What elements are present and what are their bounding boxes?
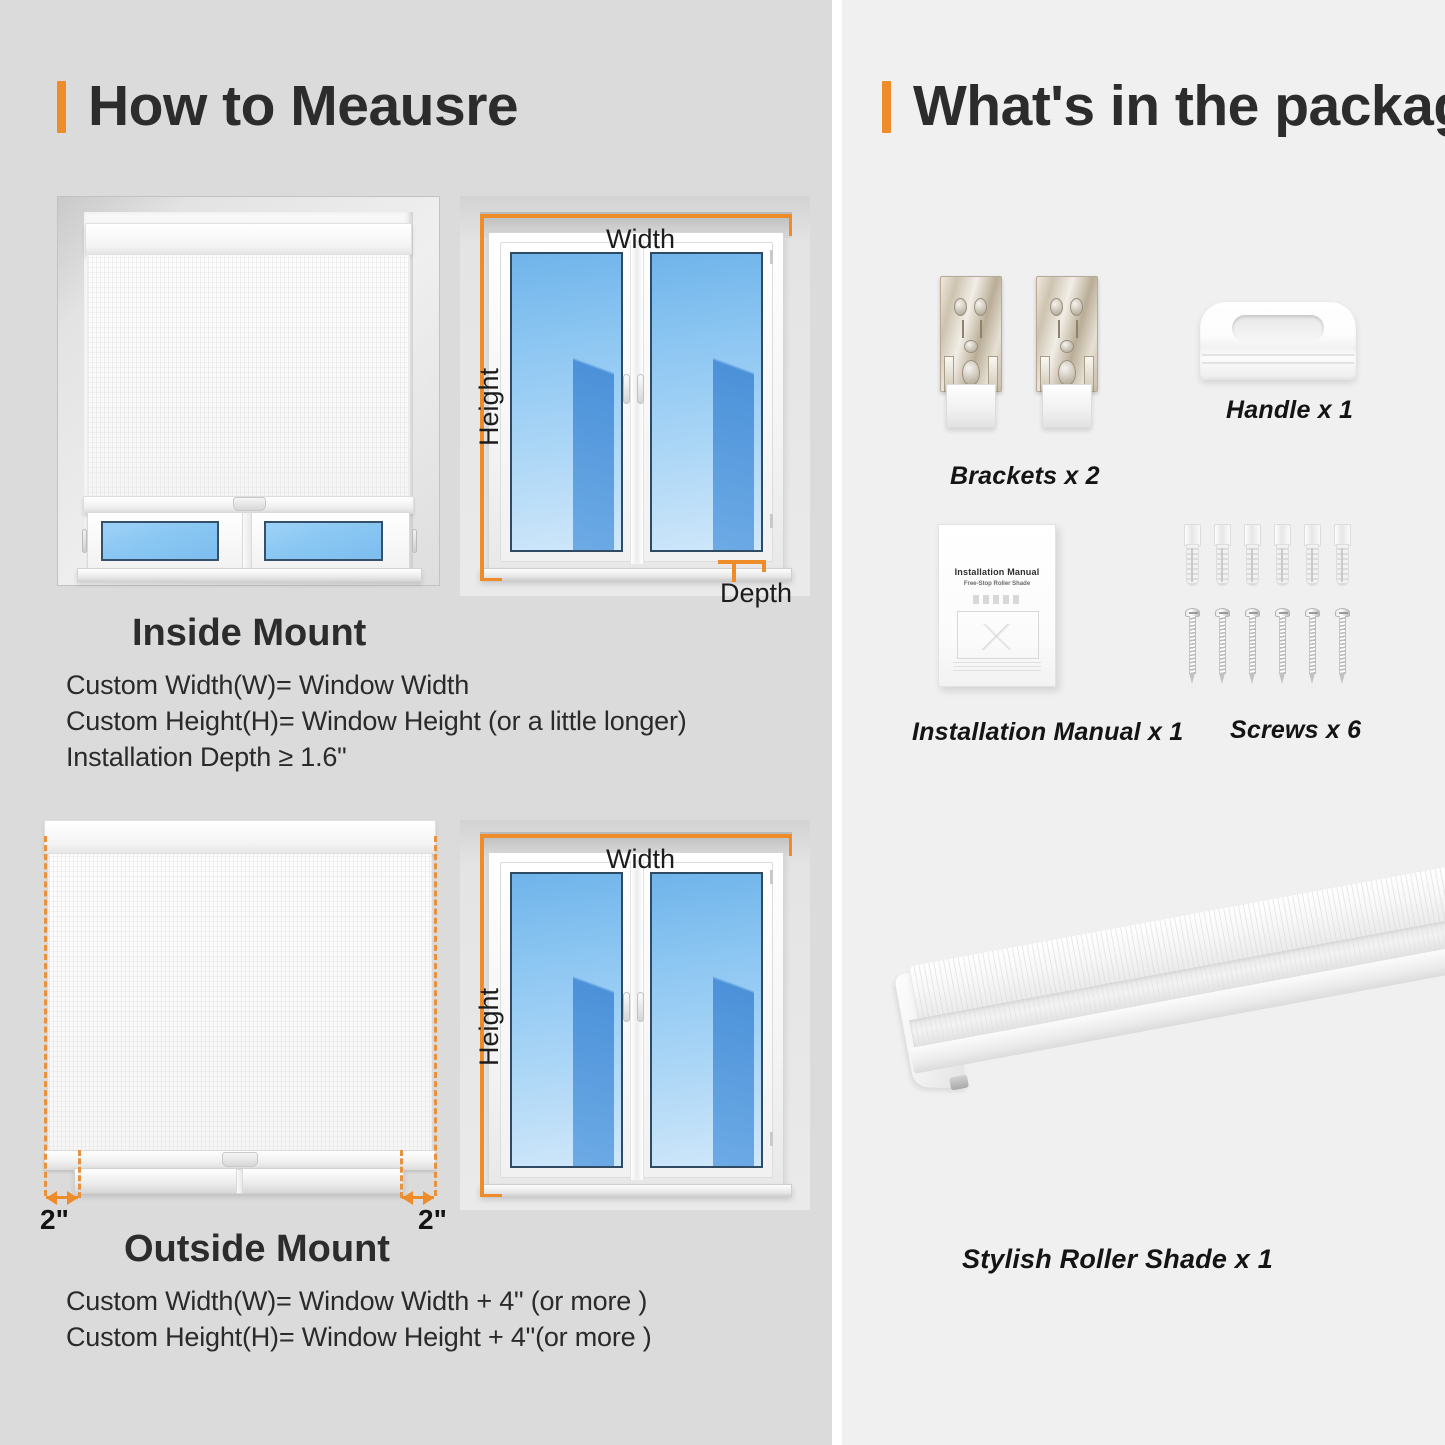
window-glass-left <box>510 252 623 552</box>
window-glass-left <box>101 521 219 561</box>
brackets-label: Brackets x 2 <box>950 462 1100 491</box>
handle-icon <box>1200 302 1356 380</box>
roller-shade-label: Stylish Roller Shade x 1 <box>962 1244 1273 1275</box>
screw-icon <box>1335 608 1350 684</box>
window-latch-bottom-icon <box>770 514 773 528</box>
height-dimension-cap-bottom <box>480 1194 502 1197</box>
window-handle-right-icon <box>637 374 644 404</box>
screws-label: Screws x 6 <box>1230 716 1361 745</box>
outside-mount-spec-0: Custom Width(W)= Window Width + 4" (or m… <box>66 1286 647 1317</box>
roller-shade-icon <box>872 880 1432 1210</box>
overhang-edge-left <box>78 1150 81 1198</box>
window-latch-bottom-icon <box>770 1132 773 1146</box>
height-label: Height <box>474 368 505 446</box>
width-dimension-line <box>480 214 792 218</box>
inside-mount-shade-illustration <box>57 196 440 586</box>
wall-anchor-icon <box>1244 524 1261 586</box>
screw-icon <box>1245 608 1260 684</box>
window-handle-left-icon <box>623 992 630 1022</box>
shade-cassette <box>85 223 412 255</box>
overhang-guide-right <box>434 836 437 1196</box>
handle-label: Handle x 1 <box>1226 396 1353 425</box>
wall-anchor-icon <box>1184 524 1201 586</box>
manual-cover-subtitle: Free-Stop Roller Shade <box>939 581 1055 587</box>
width-label: Width <box>606 844 675 875</box>
shade-pull-handle[interactable] <box>233 497 266 511</box>
window-glass-right <box>264 521 383 561</box>
screws-image <box>1182 524 1382 700</box>
wall-anchor-icon <box>1334 524 1351 586</box>
shade-pull-handle[interactable] <box>222 1152 258 1167</box>
manual-image: Installation Manual Free-Stop Roller Sha… <box>938 524 1078 700</box>
window-mullion <box>236 1169 243 1194</box>
height-dimension-cap-bottom <box>480 578 502 581</box>
screw-icon <box>1275 608 1290 684</box>
screw-icon <box>1215 608 1230 684</box>
inside-mount-spec-2: Installation Depth ≥ 1.6" <box>66 742 347 773</box>
handle-image <box>1200 302 1360 384</box>
how-to-measure-heading: How to Meausre <box>57 78 518 135</box>
outside-mount-title: Outside Mount <box>124 1228 390 1271</box>
height-label: Height <box>474 988 505 1066</box>
wall-anchor-icon <box>1274 524 1291 586</box>
width-dimension-cap-right <box>789 834 792 856</box>
overhang-arrowhead-left-end <box>67 1191 78 1205</box>
outside-mount-spec-1: Custom Height(H)= Window Height + 4"(or … <box>66 1322 652 1353</box>
manual-label: Installation Manual x 1 <box>912 718 1183 747</box>
wall-anchor-icon <box>1304 524 1321 586</box>
overhang-arrowhead-right-start <box>402 1191 413 1205</box>
screw-icon <box>1305 608 1320 684</box>
window-glass-left <box>510 872 623 1168</box>
window-handle-left-icon <box>623 374 630 404</box>
shade-fabric <box>87 255 410 498</box>
inside-mount-measure-diagram: Width Height Depth <box>460 196 810 596</box>
roller-shade-image <box>852 880 1432 1220</box>
accent-bar-icon <box>57 81 66 133</box>
window-sill <box>480 1184 792 1197</box>
width-label: Width <box>606 224 675 255</box>
window-mullion <box>242 512 252 570</box>
how-to-measure-panel: How to Meausre <box>0 0 832 1445</box>
window-handle-left-icon <box>82 529 87 553</box>
window-handle-right-icon <box>637 992 644 1022</box>
outside-mount-shade-illustration <box>40 812 440 1202</box>
window-glass-right <box>650 252 763 552</box>
handle-slot <box>1232 315 1324 341</box>
manual-cover-illustration <box>957 611 1039 659</box>
window-sill <box>77 568 422 582</box>
overhang-label-right: 2" <box>418 1204 447 1236</box>
panel-divider <box>832 0 842 1445</box>
overhang-arrowhead-right-end <box>423 1191 434 1205</box>
inside-mount-spec-0: Custom Width(W)= Window Width <box>66 670 469 701</box>
overhang-guide-left <box>44 836 47 1196</box>
brackets-image <box>932 276 1122 436</box>
width-dimension-line <box>480 834 792 838</box>
wall-anchor-icon <box>1214 524 1231 586</box>
depth-dimension-marker <box>718 560 766 572</box>
package-contents-panel: What's in the package <box>842 0 1445 1445</box>
window-latch-top-icon <box>770 870 773 884</box>
inside-mount-spec-1: Custom Height(H)= Window Height (or a li… <box>66 706 687 737</box>
package-heading: What's in the package <box>882 78 1445 135</box>
manual-cover-scribble <box>973 595 1023 604</box>
bracket-icon <box>1036 276 1098 428</box>
infographic-page: How to Meausre <box>0 0 1445 1445</box>
window-latch-top-icon <box>770 250 773 264</box>
width-dimension-cap-right <box>789 214 792 236</box>
depth-label: Depth <box>720 578 792 609</box>
heading-label: How to Meausre <box>88 78 518 135</box>
manual-icon: Installation Manual Free-Stop Roller Sha… <box>938 524 1056 687</box>
window-glass-right <box>650 872 763 1168</box>
bracket-icon <box>940 276 1002 428</box>
overhang-arrowhead-left-start <box>46 1191 57 1205</box>
manual-cover-footer <box>953 662 1041 674</box>
window-handle-right-icon <box>412 529 417 553</box>
outside-mount-measure-diagram: Width Height <box>460 820 810 1210</box>
accent-bar-icon <box>882 81 891 133</box>
heading-label: What's in the package <box>913 78 1445 135</box>
roller-pin <box>949 1074 969 1090</box>
inside-mount-title: Inside Mount <box>132 612 366 655</box>
overhang-label-left: 2" <box>40 1204 69 1236</box>
manual-cover-title: Installation Manual <box>939 567 1055 577</box>
screw-icon <box>1185 608 1200 684</box>
shade-cassette <box>44 820 436 854</box>
shade-fabric <box>48 854 432 1152</box>
